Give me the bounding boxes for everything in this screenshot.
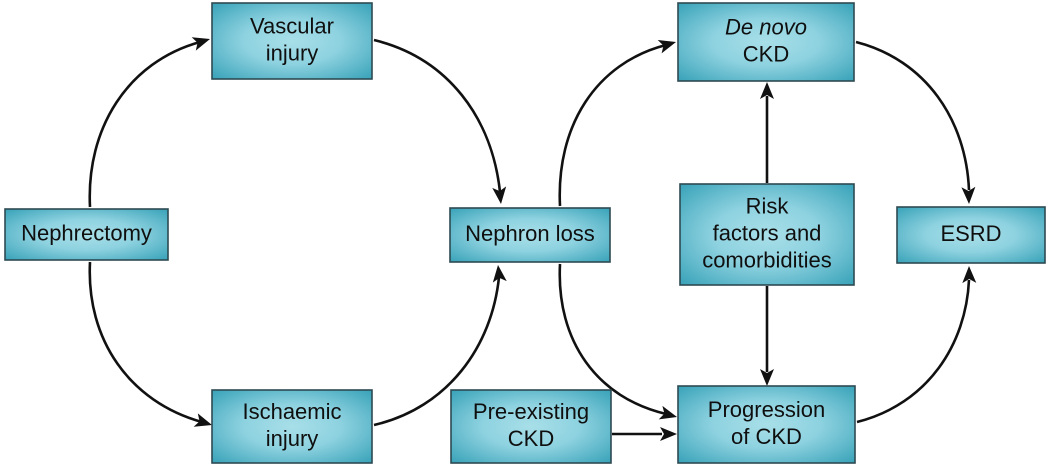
edge-nephrectomy-to-ischaemic-injury-line	[90, 262, 202, 422]
edge-nephrectomy-to-ischaemic-injury	[90, 262, 214, 432]
edge-vascular-injury-to-nephron-loss	[374, 40, 508, 205]
node-nephrectomy[interactable]: Nephrectomy	[5, 209, 168, 260]
node-de-novo-ckd-label-line-1: De novo	[725, 14, 807, 39]
node-pre-existing-ckd-label-line-1: Pre-existing	[473, 399, 589, 424]
node-pre-existing-ckd-label-line-2: CKD	[508, 426, 554, 451]
node-esrd-label-line-1: ESRD	[940, 221, 1001, 246]
edge-nephron-loss-to-de-novo-ckd-line	[560, 45, 666, 206]
node-de-novo-ckd-label-line-2: CKD	[743, 41, 789, 66]
edge-progression-to-esrd-line	[857, 280, 969, 422]
node-ischaemic-injury-label-line-1: Ischaemic	[242, 399, 341, 424]
edge-nephron-loss-to-de-novo-ckd-arrowhead-icon	[658, 35, 678, 53]
node-risk-factors-and-comorbidities[interactable]: Riskfactors andcomorbidities	[680, 184, 854, 285]
edge-de-novo-ckd-to-esrd	[856, 42, 976, 204]
edge-risk-factors-to-progression	[760, 286, 774, 386]
node-vascular-injury-label-line-1: Vascular	[250, 13, 334, 38]
node-ischaemic-injury[interactable]: Ischaemicinjury	[212, 390, 372, 463]
node-pre-existing-ckd[interactable]: Pre-existingCKD	[451, 390, 611, 463]
node-nephron-loss[interactable]: Nephron loss	[450, 208, 610, 262]
edge-nephron-loss-to-de-novo-ckd	[560, 35, 678, 206]
node-risk-factors-and-comorbidities-label-line-2: factors and	[713, 220, 822, 245]
edge-nephrectomy-to-vascular-injury	[90, 32, 212, 207]
diagram-root: NephrectomyVascularinjuryIschaemicinjury…	[0, 0, 1050, 466]
edge-pre-existing-ckd-to-progression	[612, 427, 677, 441]
node-nephrectomy-label-line-1: Nephrectomy	[21, 220, 152, 245]
node-vascular-injury[interactable]: Vascularinjury	[212, 3, 372, 79]
node-vascular-injury-label-line-2: injury	[266, 40, 319, 65]
node-de-novo-ckd[interactable]: De novoCKD	[678, 3, 854, 81]
edge-de-novo-ckd-to-esrd-line	[856, 42, 969, 190]
edge-nephron-loss-to-progression-arrowhead-icon	[659, 406, 679, 424]
edge-risk-factors-to-de-novo-ckd	[760, 82, 774, 183]
edge-nephrectomy-to-vascular-injury-line	[90, 42, 200, 207]
node-risk-factors-and-comorbidities-label-line-3: comorbidities	[702, 247, 832, 272]
node-risk-factors-and-comorbidities-label-line-1: Risk	[746, 193, 790, 218]
node-layer: NephrectomyVascularinjuryIschaemicinjury…	[5, 3, 1045, 463]
ckd-flow-diagram: NephrectomyVascularinjuryIschaemicinjury…	[0, 0, 1050, 466]
node-ischaemic-injury-label-line-2: injury	[266, 426, 319, 451]
edge-nephrectomy-to-ischaemic-injury-arrowhead-icon	[194, 413, 214, 431]
edge-vascular-injury-to-nephron-loss-line	[374, 40, 500, 192]
edge-progression-to-esrd	[857, 266, 976, 422]
node-esrd[interactable]: ESRD	[897, 207, 1045, 263]
node-nephron-loss-label-line-1: Nephron loss	[465, 221, 595, 246]
node-progression-of-ckd-label-line-1: Progression	[708, 397, 825, 422]
edge-pre-existing-ckd-to-progression-arrowhead-icon	[660, 427, 677, 441]
node-progression-of-ckd-label-line-2: of CKD	[731, 424, 802, 449]
edge-nephrectomy-to-vascular-injury-arrowhead-icon	[192, 32, 212, 50]
node-progression-of-ckd[interactable]: Progressionof CKD	[678, 386, 855, 463]
